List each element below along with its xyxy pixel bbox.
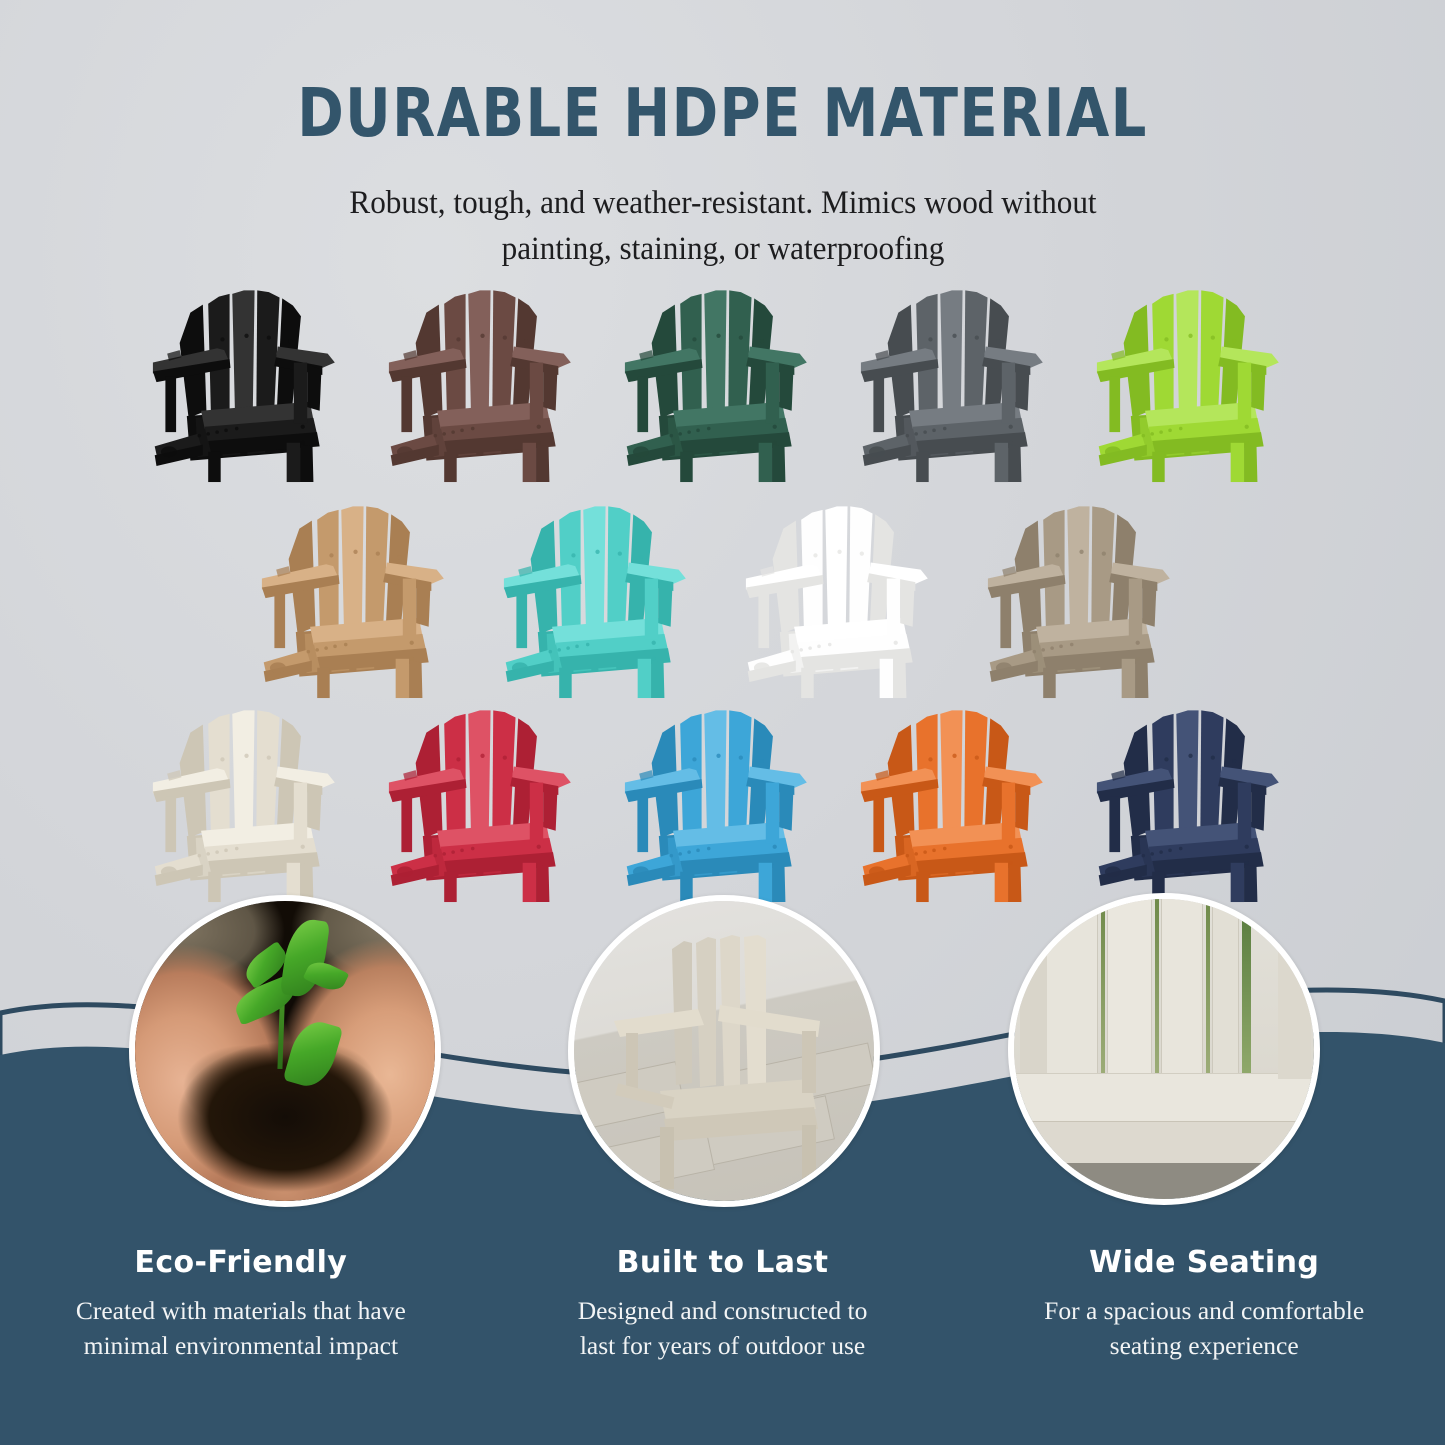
adirondack-chair-gray bbox=[852, 272, 1066, 487]
feature-desc-line-1: Designed and constructed to bbox=[500, 1293, 946, 1328]
header: DURABLE HDPE MATERIAL Robust, tough, and… bbox=[0, 0, 1445, 272]
adirondack-chair-turquoise bbox=[495, 488, 709, 703]
feature-desc-line-2: last for years of outdoor use bbox=[500, 1328, 946, 1363]
feature-description: Created with materials that have minimal… bbox=[18, 1293, 464, 1363]
chair-swatch-gray[interactable] bbox=[852, 272, 1066, 487]
feature-wide-seating: Wide Seating For a spacious and comforta… bbox=[963, 1245, 1445, 1445]
chair-swatch-sky-blue[interactable] bbox=[616, 692, 830, 907]
seedling-in-hands-photo bbox=[135, 901, 435, 1201]
chair-row-3 bbox=[0, 692, 1445, 907]
adirondack-chair-ivory-cream bbox=[144, 692, 358, 907]
feature-list: Eco-Friendly Created with materials that… bbox=[0, 1245, 1445, 1445]
feature-image-built-to-last bbox=[568, 895, 880, 1207]
chair-swatch-weathered-wood[interactable] bbox=[979, 488, 1193, 703]
chair-swatch-orange[interactable] bbox=[852, 692, 1066, 907]
feature-desc-line-1: For a spacious and comfortable bbox=[981, 1293, 1427, 1328]
feature-desc-line-2: minimal environmental impact bbox=[18, 1328, 464, 1363]
adirondack-chair-dark-green bbox=[616, 272, 830, 487]
adirondack-chair-crimson-red bbox=[380, 692, 594, 907]
feature-desc-line-2: seating experience bbox=[981, 1328, 1427, 1363]
chair-swatch-crimson-red[interactable] bbox=[380, 692, 594, 907]
chair-swatch-brown[interactable] bbox=[380, 272, 594, 487]
adirondack-chair-orange bbox=[852, 692, 1066, 907]
patio-chair-illustration bbox=[580, 913, 870, 1203]
chair-seat-closeup-photo bbox=[1014, 899, 1314, 1199]
chair-swatch-ivory-cream[interactable] bbox=[144, 692, 358, 907]
chair-swatch-lime-green[interactable] bbox=[1088, 272, 1302, 487]
adirondack-chair-brown bbox=[380, 272, 594, 487]
beige-chair-on-patio-photo bbox=[574, 901, 874, 1201]
adirondack-chair-navy-blue bbox=[1088, 692, 1302, 907]
chair-swatch-black[interactable] bbox=[144, 272, 358, 487]
feature-title: Eco-Friendly bbox=[18, 1245, 464, 1280]
feature-description: For a spacious and comfortable seating e… bbox=[981, 1293, 1427, 1363]
adirondack-chair-black bbox=[144, 272, 358, 487]
feature-image-wide-seating bbox=[1008, 893, 1320, 1205]
adirondack-chair-teak-tan bbox=[253, 488, 467, 703]
subtitle-line-2: painting, staining, or waterproofing bbox=[243, 226, 1203, 272]
chair-swatch-turquoise[interactable] bbox=[495, 488, 709, 703]
chair-row-2 bbox=[0, 488, 1445, 703]
feature-title: Wide Seating bbox=[981, 1245, 1427, 1280]
chair-swatch-white[interactable] bbox=[737, 488, 951, 703]
adirondack-chair-weathered-wood bbox=[979, 488, 1193, 703]
subtitle-line-1: Robust, tough, and weather-resistant. Mi… bbox=[243, 180, 1203, 226]
chair-swatch-dark-green[interactable] bbox=[616, 272, 830, 487]
feature-image-eco-friendly bbox=[129, 895, 441, 1207]
chair-swatch-teak-tan[interactable] bbox=[253, 488, 467, 703]
adirondack-chair-sky-blue bbox=[616, 692, 830, 907]
page-subtitle: Robust, tough, and weather-resistant. Mi… bbox=[243, 180, 1203, 272]
feature-desc-line-1: Created with materials that have bbox=[18, 1293, 464, 1328]
adirondack-chair-lime-green bbox=[1088, 272, 1302, 487]
adirondack-chair-white bbox=[737, 488, 951, 703]
chair-row-1 bbox=[0, 272, 1445, 487]
chair-swatch-navy-blue[interactable] bbox=[1088, 692, 1302, 907]
feature-eco-friendly: Eco-Friendly Created with materials that… bbox=[0, 1245, 482, 1445]
feature-description: Designed and constructed to last for yea… bbox=[500, 1293, 946, 1363]
feature-built-to-last: Built to Last Designed and constructed t… bbox=[482, 1245, 964, 1445]
feature-title: Built to Last bbox=[500, 1245, 946, 1280]
page-title: DURABLE HDPE MATERIAL bbox=[51, 80, 1395, 147]
